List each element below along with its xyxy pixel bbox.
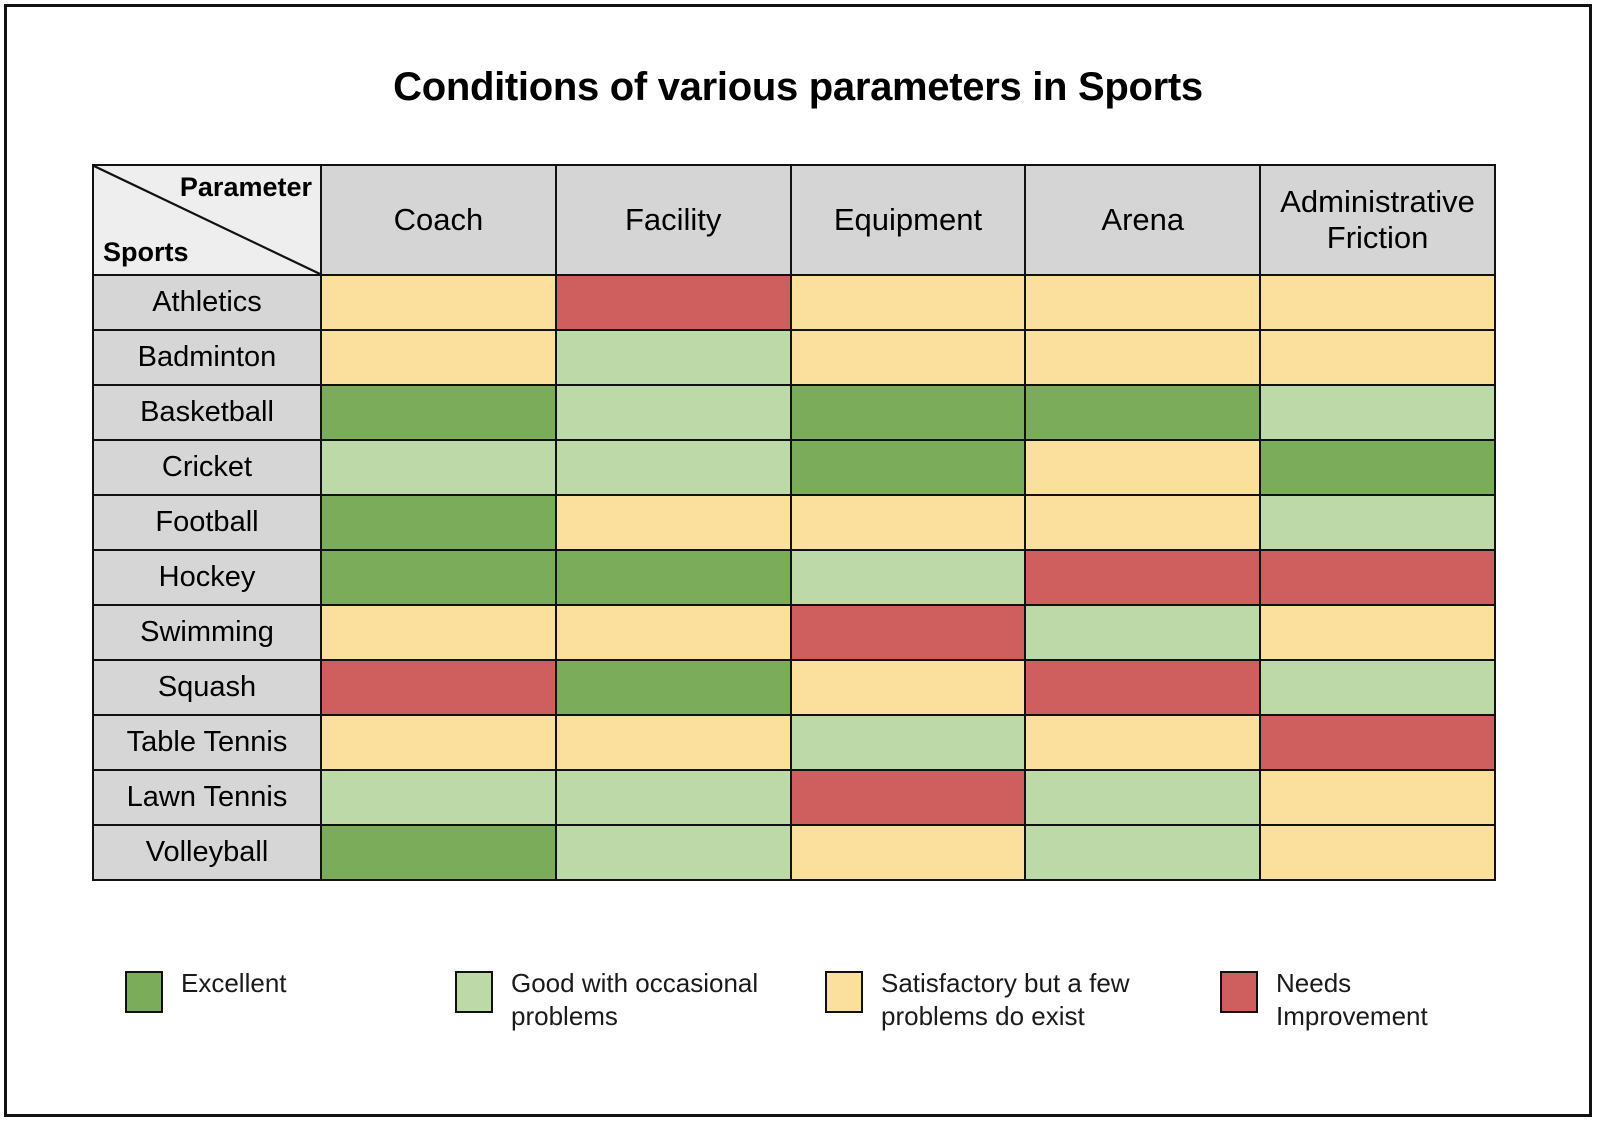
legend: ExcellentGood with occasional problemsSa… [125,967,1485,1034]
column-header-facility: Facility [556,165,791,275]
cell-basketball-coach [321,385,556,440]
cell-badminton-facility [556,330,791,385]
cell-football-coach [321,495,556,550]
cell-volleyball-arena [1025,825,1260,880]
row-header-badminton: Badminton [93,330,321,385]
table-row: Cricket [93,440,1495,495]
cell-cricket-equipment [791,440,1026,495]
legend-swatch-excellent [125,971,163,1013]
cell-football-arena [1025,495,1260,550]
legend-item-satisfactory: Satisfactory but a few problems do exist [825,967,1220,1034]
table-row: Table Tennis [93,715,1495,770]
row-header-hockey: Hockey [93,550,321,605]
table-body: AthleticsBadmintonBasketballCricketFootb… [93,275,1495,880]
row-header-athletics: Athletics [93,275,321,330]
cell-basketball-administrative-friction [1260,385,1495,440]
cell-squash-administrative-friction [1260,660,1495,715]
conditions-matrix-table: Parameter Sports Coach Facility Equipmen… [92,164,1496,881]
cell-cricket-facility [556,440,791,495]
cell-badminton-coach [321,330,556,385]
table-row: Squash [93,660,1495,715]
cell-cricket-administrative-friction [1260,440,1495,495]
cell-cricket-arena [1025,440,1260,495]
cell-lawn-tennis-administrative-friction [1260,770,1495,825]
corner-header-cell: Parameter Sports [93,165,321,275]
cell-football-facility [556,495,791,550]
cell-hockey-administrative-friction [1260,550,1495,605]
row-header-swimming: Swimming [93,605,321,660]
legend-label-good: Good with occasional problems [511,967,825,1034]
cell-table-tennis-coach [321,715,556,770]
cell-lawn-tennis-arena [1025,770,1260,825]
cell-swimming-facility [556,605,791,660]
row-header-volleyball: Volleyball [93,825,321,880]
cell-table-tennis-arena [1025,715,1260,770]
table-row: Badminton [93,330,1495,385]
cell-squash-coach [321,660,556,715]
cell-volleyball-facility [556,825,791,880]
cell-basketball-equipment [791,385,1026,440]
table-row: Basketball [93,385,1495,440]
legend-item-good: Good with occasional problems [455,967,825,1034]
cell-lawn-tennis-coach [321,770,556,825]
cell-hockey-facility [556,550,791,605]
cell-volleyball-equipment [791,825,1026,880]
cell-volleyball-coach [321,825,556,880]
cell-squash-arena [1025,660,1260,715]
cell-athletics-facility [556,275,791,330]
cell-badminton-equipment [791,330,1026,385]
legend-swatch-good [455,971,493,1013]
cell-hockey-equipment [791,550,1026,605]
column-header-equipment: Equipment [791,165,1026,275]
row-header-cricket: Cricket [93,440,321,495]
table-row: Swimming [93,605,1495,660]
table-row: Lawn Tennis [93,770,1495,825]
row-header-squash: Squash [93,660,321,715]
cell-football-administrative-friction [1260,495,1495,550]
cell-football-equipment [791,495,1026,550]
legend-swatch-needs [1220,971,1258,1013]
column-header-arena: Arena [1025,165,1260,275]
cell-swimming-equipment [791,605,1026,660]
corner-sports-label: Sports [103,237,189,268]
table-row: Athletics [93,275,1495,330]
corner-parameter-label: Parameter [180,172,312,203]
cell-swimming-coach [321,605,556,660]
cell-squash-equipment [791,660,1026,715]
cell-athletics-administrative-friction [1260,275,1495,330]
cell-table-tennis-administrative-friction [1260,715,1495,770]
cell-basketball-facility [556,385,791,440]
legend-item-excellent: Excellent [125,967,455,1013]
row-header-table-tennis: Table Tennis [93,715,321,770]
legend-label-excellent: Excellent [181,967,287,1000]
cell-lawn-tennis-facility [556,770,791,825]
legend-label-needs: Needs Improvement [1276,967,1480,1034]
table-row: Volleyball [93,825,1495,880]
cell-athletics-equipment [791,275,1026,330]
cell-athletics-coach [321,275,556,330]
column-header-coach: Coach [321,165,556,275]
cell-badminton-administrative-friction [1260,330,1495,385]
header-row: Parameter Sports Coach Facility Equipmen… [93,165,1495,275]
row-header-lawn-tennis: Lawn Tennis [93,770,321,825]
table-row: Hockey [93,550,1495,605]
table-row: Football [93,495,1495,550]
page-title: Conditions of various parameters in Spor… [7,65,1589,110]
cell-table-tennis-equipment [791,715,1026,770]
cell-lawn-tennis-equipment [791,770,1026,825]
cell-cricket-coach [321,440,556,495]
cell-hockey-coach [321,550,556,605]
cell-swimming-arena [1025,605,1260,660]
cell-athletics-arena [1025,275,1260,330]
row-header-football: Football [93,495,321,550]
legend-swatch-satisfactory [825,971,863,1013]
cell-volleyball-administrative-friction [1260,825,1495,880]
cell-swimming-administrative-friction [1260,605,1495,660]
table-header: Parameter Sports Coach Facility Equipmen… [93,165,1495,275]
cell-badminton-arena [1025,330,1260,385]
cell-squash-facility [556,660,791,715]
cell-hockey-arena [1025,550,1260,605]
legend-label-satisfactory: Satisfactory but a few problems do exist [881,967,1220,1034]
legend-item-needs: Needs Improvement [1220,967,1480,1034]
page-frame: Conditions of various parameters in Spor… [4,4,1592,1117]
column-header-administrative-friction: Administrative Friction [1260,165,1495,275]
cell-basketball-arena [1025,385,1260,440]
cell-table-tennis-facility [556,715,791,770]
row-header-basketball: Basketball [93,385,321,440]
